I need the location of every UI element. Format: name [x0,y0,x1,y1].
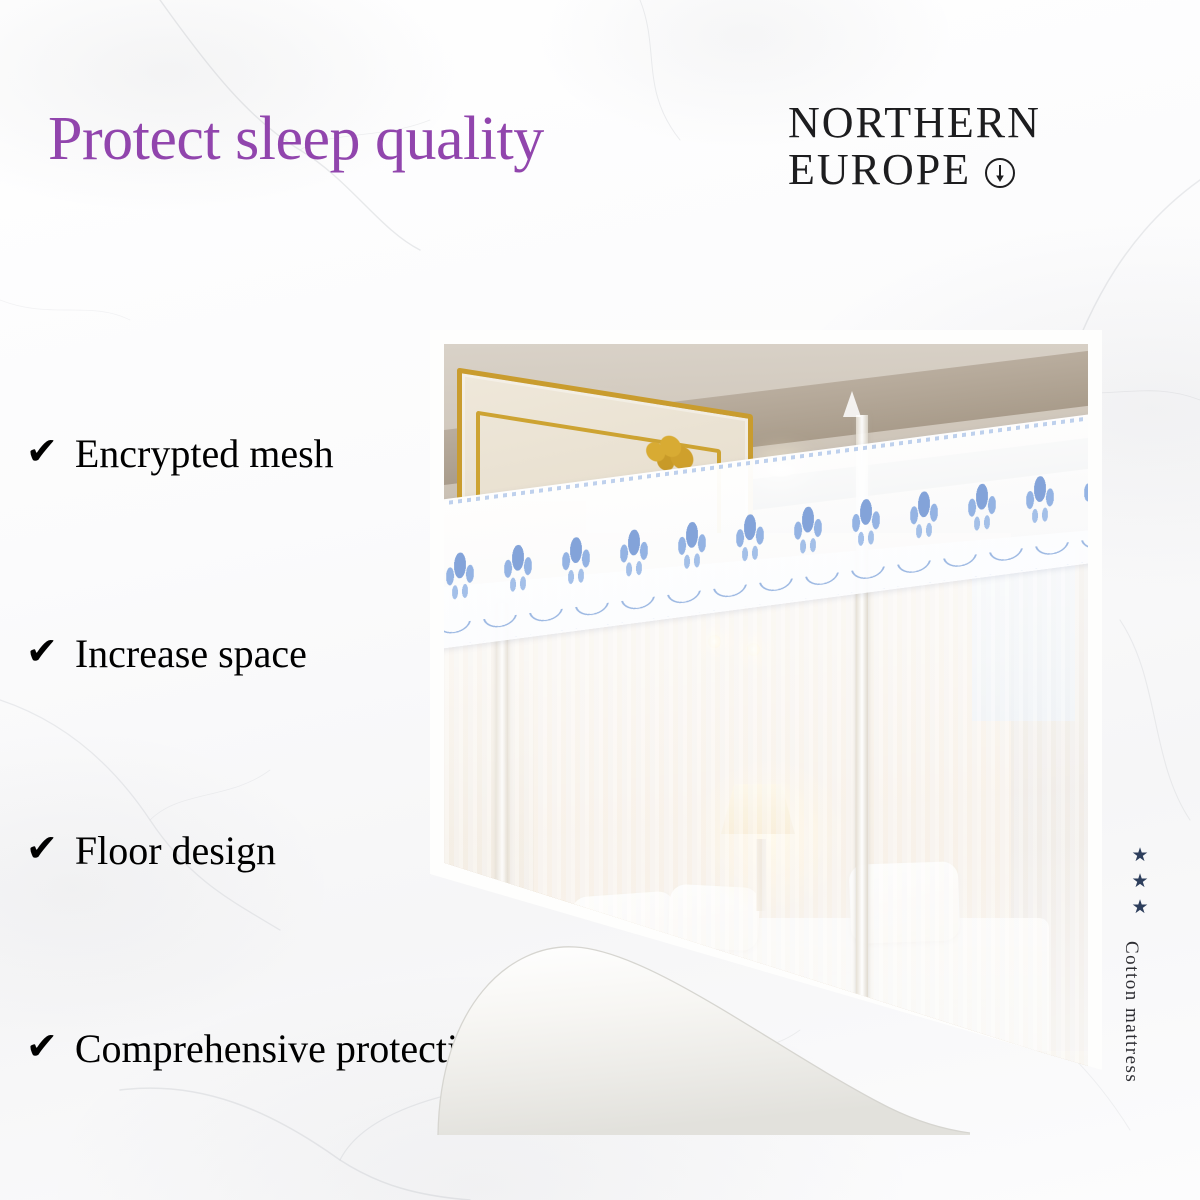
rail-caption: Cotton mattress [1120,941,1142,1083]
check-icon: ✔ [26,633,58,671]
check-icon: ✔ [26,433,58,471]
star-rating: ★ ★ ★ [1120,846,1160,915]
feature-item-comprehensive-protection: ✔ Comprehensive protection [26,1025,498,1072]
star-icon: ★ [1132,846,1149,863]
feature-item-increase-space: ✔ Increase space [26,630,307,677]
canopy-peak [843,391,861,417]
feature-item-encrypted-mesh: ✔ Encrypted mesh [26,430,334,477]
page-title: Protect sleep quality [48,108,544,170]
ad-banner: Protect sleep quality NORTHERN EUROPE ✔ … [0,0,1200,1200]
right-rail: ★ ★ ★ Cotton mattress [1120,846,1160,1083]
brand-line-2: EUROPE [788,147,971,194]
star-icon: ★ [1132,872,1149,889]
feature-label: Comprehensive protection [75,1025,498,1072]
check-icon: ✔ [26,830,58,868]
feature-label: Encrypted mesh [75,430,334,477]
feature-item-floor-design: ✔ Floor design [26,827,276,874]
feature-label: Increase space [75,630,307,677]
check-icon: ✔ [26,1028,58,1066]
star-icon: ★ [1132,898,1149,915]
feature-label: Floor design [75,827,276,874]
brand-line-1: NORTHERN [788,100,1041,147]
brand-logo: NORTHERN EUROPE [788,100,1041,193]
circle-down-arrow-icon [983,153,1017,187]
